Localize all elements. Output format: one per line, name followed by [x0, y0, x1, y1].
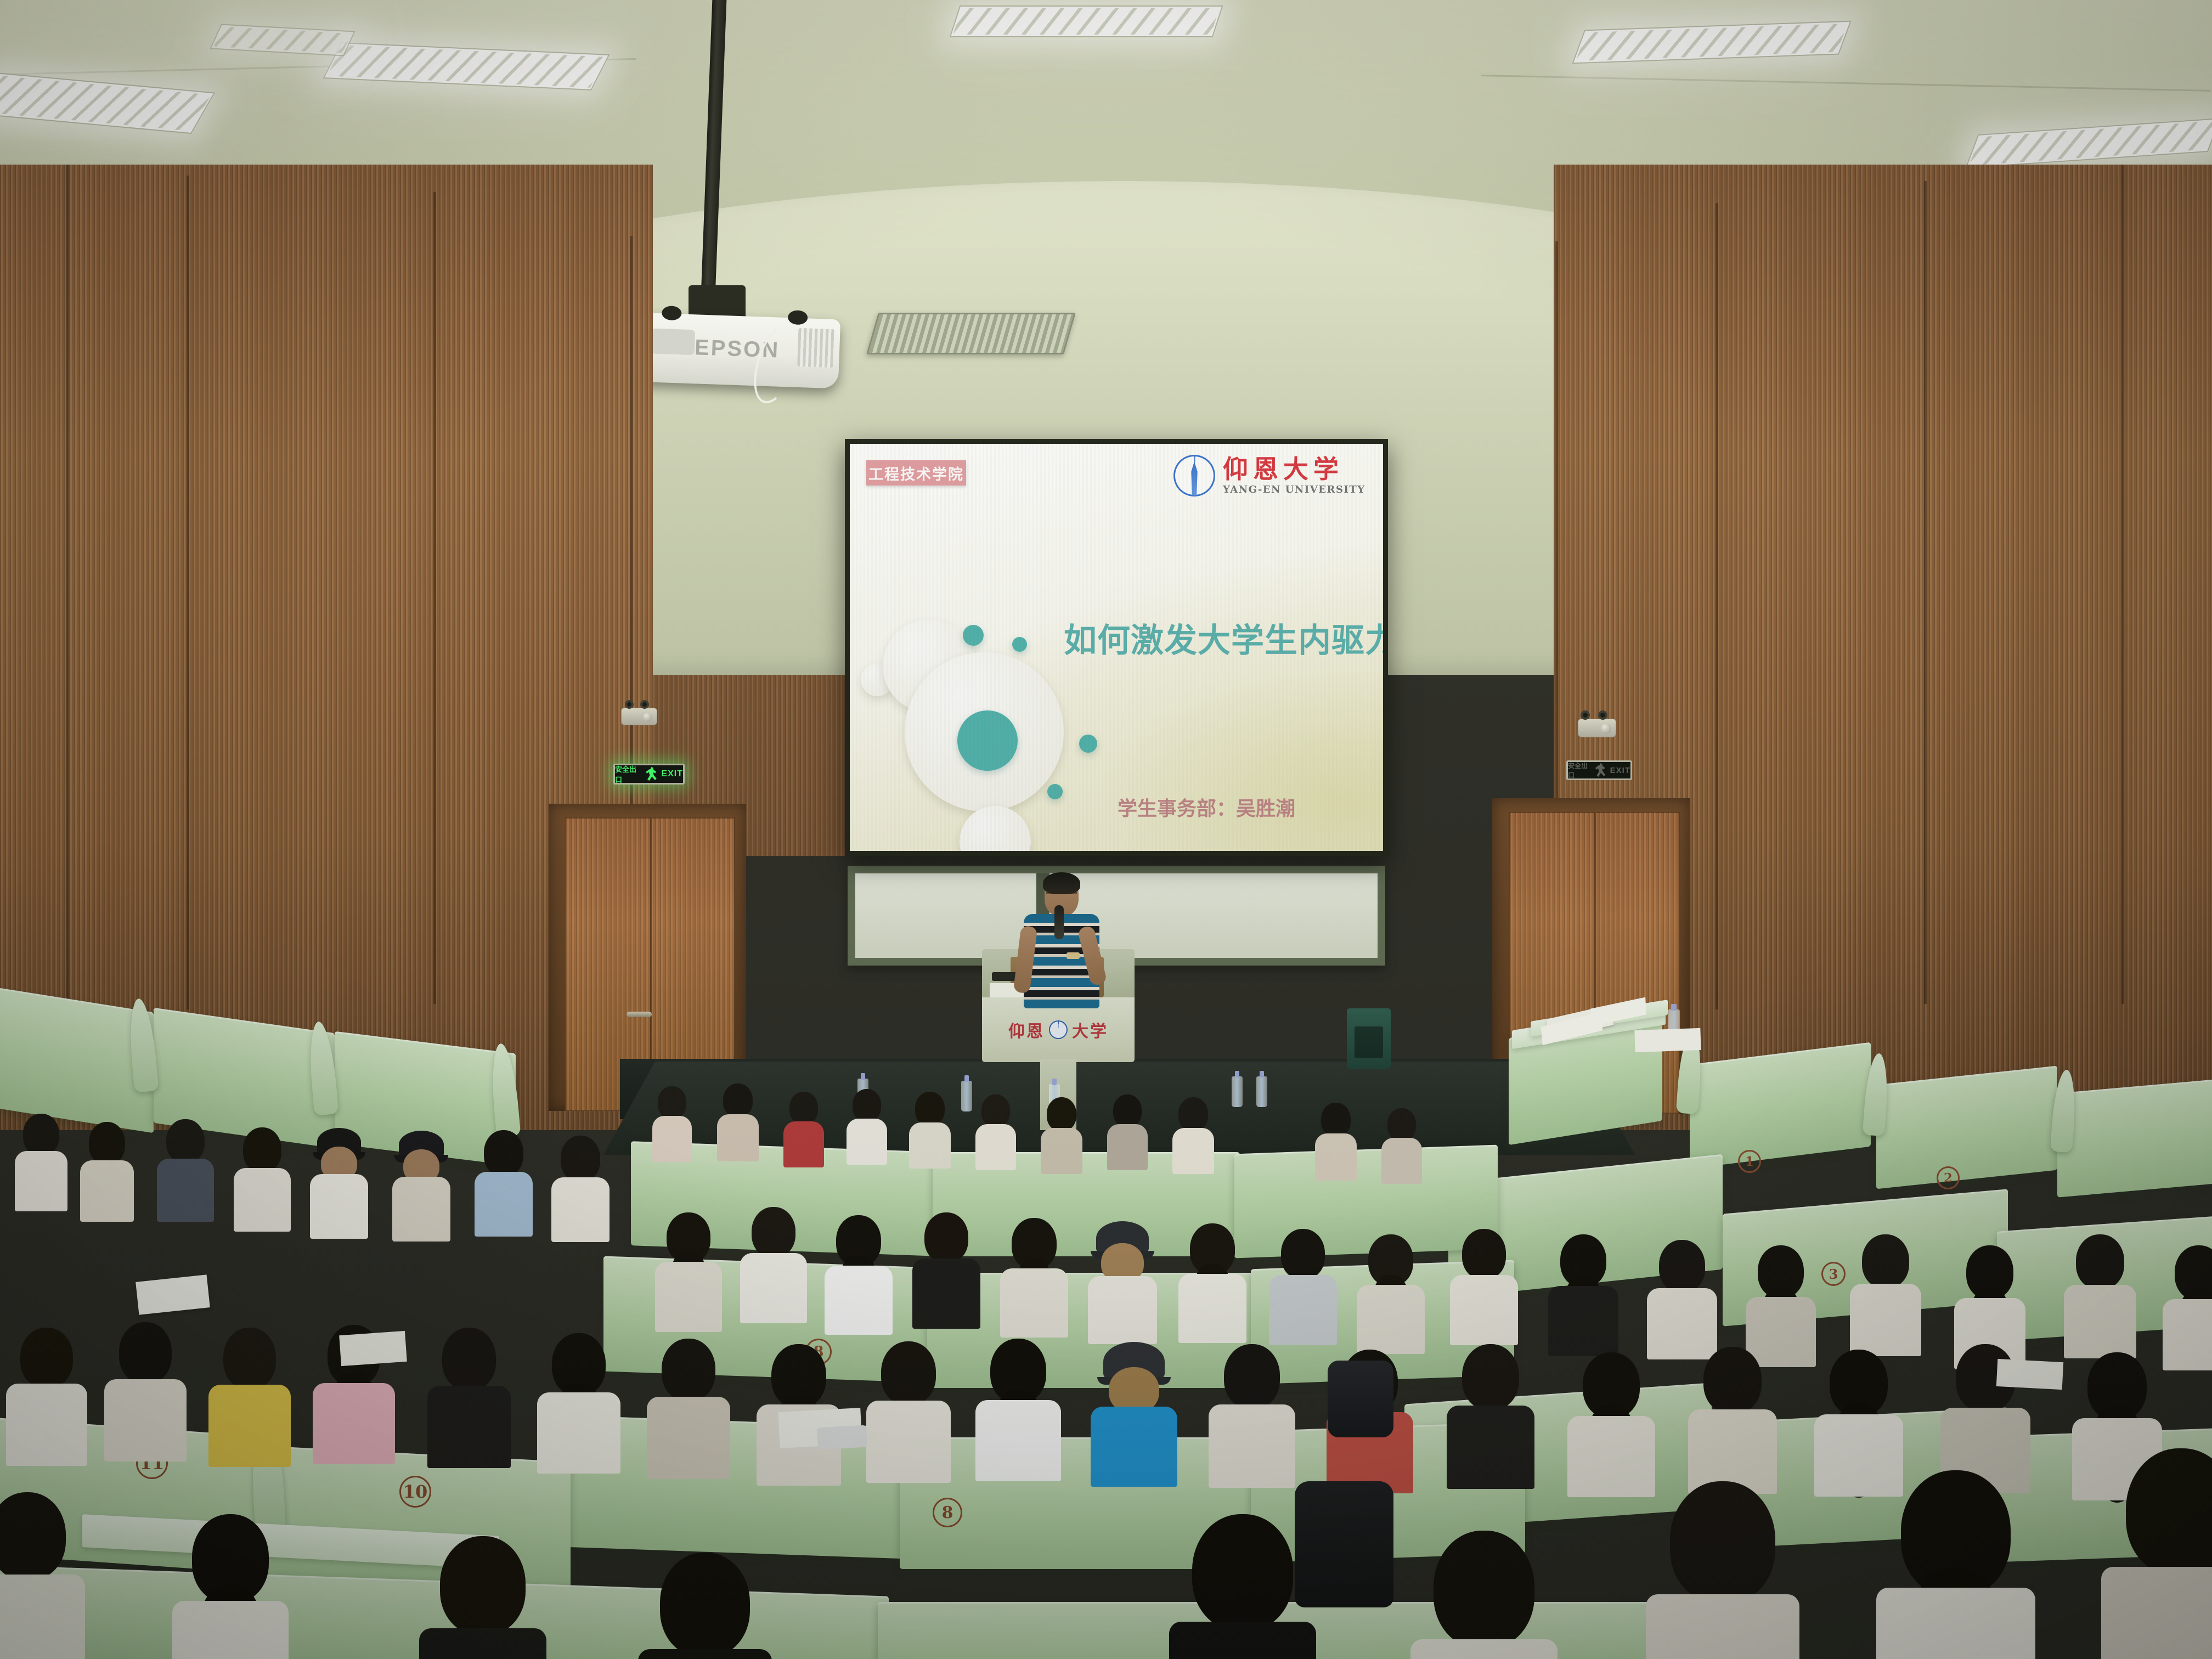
person-body: [825, 1266, 893, 1335]
audience-member: [1180, 1514, 1306, 1659]
lecture-hall-photo: EPSON 安全出口 EXIT 安全出口 EXIT: [0, 0, 2212, 1659]
stage-water-bottle[interactable]: [1256, 1076, 1267, 1107]
bench-row[interactable]: [1690, 1042, 1871, 1169]
audience-member: [785, 1092, 823, 1163]
person-head: [1670, 1481, 1775, 1603]
projector: EPSON: [635, 313, 840, 389]
person-body: [740, 1253, 807, 1323]
person-head: [166, 1119, 205, 1163]
person-head: [1703, 1347, 1762, 1414]
audience-member: [1887, 1470, 2024, 1659]
seat-number: 3: [1821, 1262, 1846, 1286]
person-head: [1462, 1229, 1506, 1279]
audience-member: [1042, 1097, 1081, 1169]
audience-member: [1108, 1094, 1147, 1166]
person-head: [853, 1089, 881, 1122]
person-body: [1169, 1622, 1316, 1659]
panel-port: [1581, 710, 1590, 720]
person-head: [1462, 1344, 1519, 1410]
person-head: [23, 1114, 59, 1155]
projection-screen: 工程技术学院 仰恩大学 YANG-EN UNIVERSITY 如何激发大学生内驱…: [845, 439, 1388, 856]
slide-title: 如何激发大学生内驱力: [1064, 614, 1383, 662]
audience-member: [16, 1114, 66, 1207]
person-body: [1269, 1275, 1337, 1345]
bench-row[interactable]: [2057, 1079, 2212, 1197]
speaker-glasses: [1046, 892, 1077, 898]
person-head: [1192, 1514, 1293, 1630]
person-body: [1091, 1407, 1177, 1487]
audience-member: [477, 1130, 529, 1229]
audience-member: [1097, 1344, 1171, 1485]
person-head: [1659, 1240, 1705, 1293]
audience-member: [1657, 1481, 1788, 1659]
person-head: [658, 1086, 686, 1119]
person-body: [652, 1116, 692, 1162]
audience-member: [653, 1339, 724, 1476]
slide-content: 工程技术学院 仰恩大学 YANG-EN UNIVERSITY 如何激发大学生内驱…: [850, 444, 1383, 851]
audience-member: [1575, 1352, 1648, 1493]
audience-member: [181, 1514, 280, 1659]
audience-member: [982, 1339, 1054, 1477]
person-body: [0, 1575, 85, 1659]
person-head: [0, 1492, 66, 1580]
person-body: [717, 1114, 759, 1161]
audience-member: [1750, 1245, 1812, 1363]
person-body: [1000, 1268, 1068, 1338]
person-head: [442, 1328, 496, 1390]
stage-stool[interactable]: [1347, 1008, 1391, 1069]
person-head: [2126, 1448, 2212, 1576]
person-body: [157, 1159, 214, 1222]
panel-dial-knob[interactable]: [1601, 724, 1611, 734]
audience-member: [1454, 1344, 1527, 1485]
exit-sign-right: 安全出口 EXIT: [1566, 760, 1632, 780]
running-man-icon: [1595, 763, 1608, 777]
decor-bubble: [960, 806, 1031, 851]
audience-member: [554, 1136, 606, 1234]
person-head: [924, 1212, 968, 1263]
person-head: [223, 1328, 276, 1389]
exit-sign-cn-label: 安全出口: [615, 764, 643, 785]
person-head: [1387, 1108, 1416, 1141]
audience-member: [110, 1322, 181, 1459]
seat-number: 1: [1738, 1150, 1761, 1173]
audience-member: [0, 1492, 77, 1659]
audience-member: [653, 1086, 691, 1158]
person-body: [1567, 1416, 1655, 1497]
person-head: [981, 1094, 1010, 1127]
projector-foot-knob: [788, 310, 808, 325]
decor-bubble: [1079, 735, 1097, 753]
person-head: [1281, 1229, 1325, 1279]
person-body: [975, 1124, 1016, 1170]
audience-member: [848, 1089, 886, 1160]
panel-port: [1598, 710, 1607, 720]
person-head: [440, 1536, 526, 1635]
audience-member: [1651, 1240, 1713, 1358]
audience-member: [543, 1333, 614, 1470]
audience-member: [1553, 1234, 1614, 1352]
wall-seam: [66, 165, 69, 1004]
projector-lens-cover: [651, 328, 696, 355]
person-head: [20, 1328, 73, 1388]
audience-member: [428, 1536, 538, 1659]
decor-bubble: [1047, 784, 1063, 799]
university-sunburst-icon: [1173, 455, 1215, 496]
person-body: [647, 1397, 730, 1479]
person-body: [638, 1649, 772, 1659]
seat-number: 8: [933, 1498, 962, 1527]
speaker-presenter: [1020, 876, 1103, 1013]
person-head: [915, 1092, 945, 1126]
audience-member: [647, 1553, 763, 1659]
person-body: [1381, 1138, 1422, 1184]
university-name-en: YANG-EN UNIVERSITY: [1223, 484, 1365, 495]
audience-member: [313, 1130, 365, 1229]
person-body: [551, 1177, 610, 1242]
person-body: [847, 1119, 887, 1165]
audience-member: [2112, 1448, 2212, 1659]
audience-member: [1215, 1344, 1289, 1485]
exit-sign-en-label: EXIT: [661, 769, 683, 779]
audience-member: [977, 1094, 1015, 1166]
person-head: [561, 1136, 600, 1182]
person-body: [234, 1168, 291, 1232]
person-body: [419, 1628, 546, 1659]
audience-member: [159, 1119, 211, 1218]
audience-member: [911, 1092, 949, 1163]
seat-number: 2: [1937, 1166, 1960, 1189]
audience-member: [214, 1328, 285, 1465]
right-wall-av-panel[interactable]: [1578, 719, 1616, 737]
person-body: [1450, 1275, 1518, 1345]
audience-member: [1854, 1234, 1917, 1354]
wall-seam: [187, 176, 189, 1009]
audience-member: [395, 1133, 447, 1232]
audience-member: [236, 1127, 288, 1226]
stage-water-bottle[interactable]: [961, 1081, 972, 1111]
person-body: [912, 1259, 980, 1329]
wall-seam: [433, 192, 436, 1004]
audience-member: [1317, 1103, 1355, 1174]
panel-port: [640, 700, 649, 709]
person-body: [1410, 1639, 1558, 1659]
person-body: [2101, 1567, 2212, 1659]
person-body: [783, 1121, 824, 1167]
audience-member: [1174, 1097, 1212, 1169]
microphone[interactable]: [1054, 905, 1064, 939]
person-head: [1047, 1097, 1076, 1131]
audience-member: [1383, 1108, 1421, 1180]
person-body: [1041, 1128, 1082, 1174]
person-body: [6, 1384, 87, 1466]
person-head: [1321, 1103, 1351, 1137]
slide-university-logo-block: 仰恩大学 YANG-EN UNIVERSITY: [1173, 455, 1365, 496]
person-body: [1088, 1276, 1157, 1344]
audience-member: [433, 1328, 505, 1465]
person-body: [975, 1400, 1061, 1481]
panel-port: [625, 700, 634, 709]
person-head: [660, 1553, 750, 1657]
person-body: [208, 1385, 291, 1467]
audience-member: [1182, 1223, 1243, 1339]
person-body: [1172, 1128, 1214, 1174]
audience-member: [658, 1212, 719, 1328]
person-head: [789, 1092, 818, 1125]
wall-seam: [1924, 181, 1927, 1004]
wall-seam: [1716, 203, 1718, 1009]
paper-on-desk: [136, 1274, 210, 1314]
podium-label-right: 大学: [1072, 1018, 1108, 1042]
audience-member: [719, 1084, 757, 1155]
audience-member: [82, 1122, 132, 1215]
person-body: [80, 1160, 134, 1222]
decor-bubble: [963, 625, 984, 646]
university-name-cn: 仰恩大学: [1223, 456, 1344, 482]
audience-member: [1273, 1229, 1333, 1344]
audience-member: [872, 1341, 945, 1480]
person-body: [1850, 1284, 1921, 1356]
person-body: [2163, 1299, 2212, 1370]
projector-foot-knob: [662, 306, 682, 320]
projector-vent: [797, 328, 834, 368]
person-head: [2076, 1234, 2124, 1289]
paper-on-desk: [1996, 1359, 2063, 1390]
person-body: [537, 1392, 620, 1474]
audience-member: [2167, 1245, 2212, 1366]
person-head: [1224, 1344, 1280, 1409]
audience-member: [1454, 1229, 1514, 1344]
person-body: [313, 1383, 395, 1464]
person-head: [119, 1322, 172, 1384]
person-body: [427, 1386, 511, 1468]
podium-label-left: 仰恩: [1008, 1018, 1045, 1042]
person-body: [1876, 1588, 2035, 1659]
person-body: [310, 1174, 368, 1239]
university-emblem-icon: [1049, 1020, 1068, 1039]
exit-sign-left: 安全出口 EXIT: [613, 764, 685, 785]
exit-sign-en-label: EXIT: [1610, 766, 1630, 775]
person-body: [866, 1401, 951, 1483]
person-body: [1548, 1286, 1618, 1356]
running-man-icon: [645, 767, 659, 781]
speaker-hair: [1043, 872, 1080, 894]
person-body: [1447, 1406, 1534, 1489]
person-body: [655, 1262, 722, 1332]
slide-presenter: 学生事务部：吴胜潮: [1118, 793, 1295, 821]
ceiling-light: [950, 5, 1223, 37]
audience-member: [11, 1328, 82, 1465]
person-body: [1209, 1404, 1295, 1488]
person-body: [15, 1151, 67, 1211]
person-body: [1315, 1133, 1357, 1181]
person-body: [1357, 1285, 1425, 1354]
person-head: [243, 1127, 281, 1172]
bench-row[interactable]: [1876, 1066, 2057, 1189]
audience-member: [743, 1207, 804, 1322]
panel-dial-knob[interactable]: [643, 713, 652, 722]
person-body: [392, 1177, 450, 1242]
person-head: [1434, 1531, 1534, 1648]
paper-on-desk: [339, 1331, 407, 1366]
ceiling-air-vent: [866, 313, 1076, 354]
speaker-wristwatch: [1066, 952, 1080, 959]
seat-number: 10: [399, 1476, 431, 1508]
phone-on-desk[interactable]: [817, 1425, 867, 1450]
door-handle[interactable]: [627, 1012, 652, 1017]
wall-seam: [2121, 165, 2124, 1004]
decor-bubble: [1012, 637, 1027, 652]
person-head: [89, 1122, 125, 1165]
audience-member: [1421, 1531, 1547, 1659]
stage-water-bottle[interactable]: [1232, 1076, 1243, 1107]
person-body: [475, 1172, 533, 1237]
person-body: [1178, 1274, 1246, 1343]
audience-member: [2068, 1234, 2132, 1355]
person-head: [1113, 1094, 1142, 1127]
backpack: [1328, 1361, 1393, 1437]
person-head: [1178, 1097, 1208, 1131]
audience-member: [916, 1212, 977, 1328]
slide-department-badge: 工程技术学院: [866, 460, 966, 486]
audience-member: [1695, 1347, 1770, 1489]
person-head: [662, 1339, 715, 1401]
person-body: [2064, 1285, 2136, 1358]
audience-member: [1361, 1234, 1421, 1350]
university-name-group: 仰恩大学 YANG-EN UNIVERSITY: [1223, 456, 1365, 495]
audience-member: [1004, 1218, 1064, 1333]
person-body: [909, 1122, 951, 1169]
person-body: [1646, 1594, 1799, 1659]
person-body: [104, 1379, 187, 1462]
decor-bubble: [957, 710, 1018, 771]
audience-member: [1821, 1350, 1896, 1492]
person-head: [484, 1130, 523, 1176]
person-head: [723, 1084, 753, 1118]
audience-member: [828, 1215, 889, 1330]
paper-on-desk: [1634, 1028, 1701, 1052]
person-head: [752, 1207, 795, 1257]
backpack: [1295, 1481, 1393, 1607]
exit-sign-cn-label: 安全出口: [1568, 761, 1593, 780]
person-body: [172, 1601, 289, 1659]
person-head: [1862, 1234, 1909, 1288]
audience-member: [1092, 1223, 1153, 1341]
left-wall-av-panel[interactable]: [621, 708, 657, 725]
person-body: [1107, 1124, 1148, 1170]
person-head: [881, 1341, 936, 1405]
